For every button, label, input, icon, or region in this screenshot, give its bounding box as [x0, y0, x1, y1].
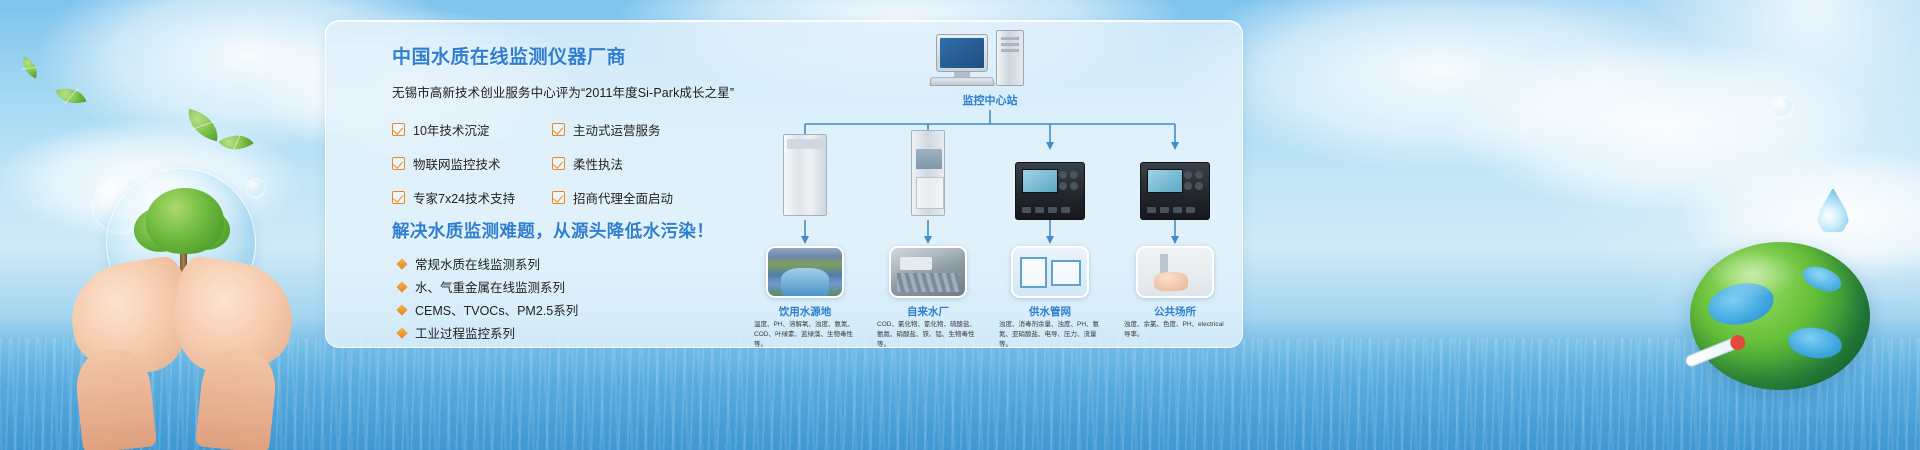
- diamond-bullet-icon: [396, 327, 407, 338]
- cloud-shape: [1450, 40, 1870, 210]
- checkmark-icon: [392, 123, 405, 136]
- device-water-cabinet: [766, 134, 844, 216]
- list-item: 水、气重金属在线监测系列: [398, 275, 728, 298]
- scene-photo-drinking-water-source: [766, 246, 844, 298]
- checklist-label: 专家7x24技术支持: [413, 188, 515, 207]
- diamond-bullet-icon: [396, 258, 407, 269]
- checklist-label: 招商代理全面启动: [573, 188, 673, 207]
- list-item-label: 常规水质在线监测系列: [415, 254, 540, 273]
- secondary-headline: 解决水质监测难题，从源头降低水污染！: [392, 218, 714, 243]
- scene-title: 公共场所: [1120, 304, 1230, 319]
- headline-block: 中国水质在线监测仪器厂商 无锡市高新技术创业服务中心评为“2011年度Si-Pa…: [392, 42, 722, 101]
- checklist-item: 10年技术沉淀: [392, 120, 552, 139]
- device-analyzer-rack: [889, 130, 967, 216]
- page-title: 中国水质在线监测仪器厂商: [392, 42, 722, 69]
- list-item-label: 工业过程监控系列: [415, 323, 515, 342]
- product-series-list: 常规水质在线监测系列 水、气重金属在线监测系列 CEMS、TVOCs、PM2.5…: [398, 252, 728, 344]
- checklist-label: 主动式运营服务: [573, 120, 661, 139]
- cloud-shape: [1180, 0, 1700, 170]
- checklist-label: 柔性执法: [573, 154, 623, 173]
- checklist-item: 专家7x24技术支持: [392, 188, 552, 207]
- scene-description: 浊度、余氯、色度、PH、electrical导率。: [1124, 320, 1228, 340]
- bubble-decoration: [1772, 96, 1794, 118]
- checkmark-icon: [552, 157, 565, 170]
- scene-description: COD、氯化物、氰化物、硫酸盐、氨氮、硝酸盐、铁、锰、生物毒性等。: [877, 320, 981, 350]
- list-item: 常规水质在线监测系列: [398, 252, 728, 275]
- checkmark-icon: [392, 191, 405, 204]
- checklist-label: 10年技术沉淀: [413, 120, 489, 139]
- leaf-icon: [18, 56, 43, 78]
- leaf-icon: [56, 82, 87, 109]
- checkmark-icon: [392, 157, 405, 170]
- scene-title: 供水管网: [995, 304, 1105, 319]
- diamond-bullet-icon: [396, 304, 407, 315]
- scene-photo-water-plant: [889, 246, 967, 298]
- scene-photo-water-pipeline: [1011, 246, 1089, 298]
- checklist-item: 柔性执法: [552, 154, 722, 173]
- scene-photo-public-place: [1136, 246, 1214, 298]
- checklist-label: 物联网监控技术: [413, 154, 501, 173]
- checkmark-icon: [552, 191, 565, 204]
- diamond-bullet-icon: [396, 281, 407, 292]
- list-item: CEMS、TVOCs、PM2.5系列: [398, 298, 728, 321]
- device-controller-left: [1011, 150, 1089, 220]
- checkmark-icon: [552, 123, 565, 136]
- device-controller-right: [1136, 150, 1214, 220]
- leaf-icon: [184, 109, 223, 142]
- list-item-label: 水、气重金属在线监测系列: [415, 277, 565, 296]
- feature-checklist: 10年技术沉淀 主动式运营服务 物联网监控技术 柔性执法 专家7x24技术支持 …: [392, 120, 722, 207]
- monitoring-system-diagram: 监控中心站: [760, 24, 1220, 344]
- list-item-label: CEMS、TVOCs、PM2.5系列: [415, 300, 578, 319]
- page-subtitle: 无锡市高新技术创业服务中心评为“2011年度Si-Park成长之星”: [392, 82, 722, 101]
- scene-title: 饮用水源地: [750, 304, 860, 319]
- green-earth-illustration: [1680, 222, 1880, 392]
- control-center-label: 监控中心站: [910, 92, 1070, 108]
- list-item: 工业过程监控系列: [398, 321, 728, 344]
- scene-description: 温度、PH、溶解氧、浊度、氨氮、COD、叶绿素、蓝绿藻、生物毒性等。: [754, 320, 858, 350]
- checklist-item: 物联网监控技术: [392, 154, 552, 173]
- control-center-computer-icon: [928, 30, 1056, 90]
- scene-title: 自来水厂: [873, 304, 983, 319]
- checklist-item: 招商代理全面启动: [552, 188, 722, 207]
- hands-holding-tree-illustration: [70, 150, 300, 450]
- water-drop-icon: [1816, 188, 1850, 234]
- scene-description: 浊度、消毒剂余量、浊度、PH、氨氮、亚硝酸盐、电导、压力、流量等。: [999, 320, 1103, 350]
- checklist-item: 主动式运营服务: [552, 120, 722, 139]
